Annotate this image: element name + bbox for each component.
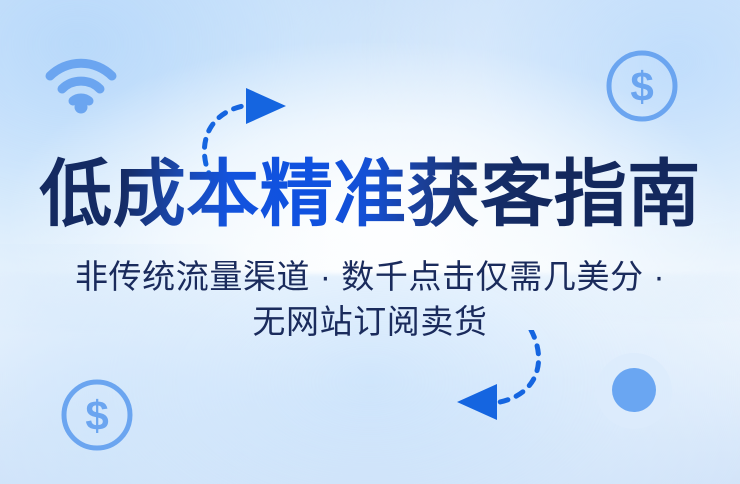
dollar-circle-icon: $ [604,48,680,124]
svg-text:$: $ [85,392,108,439]
dot-accent-icon [592,349,676,433]
poster-canvas: $ $ 低成本精准获客指南 非传统流量渠道 · 数千点击仅需几美分 · [0,0,740,484]
poster-text-block: 低成本精准获客指南 非传统流量渠道 · 数千点击仅需几美分 · 无网站订阅卖货 [0,152,740,344]
poster-subheadline-line-2: 无网站订阅卖货 [0,299,740,344]
poster-subheadline: 非传统流量渠道 · 数千点击仅需几美分 · 无网站订阅卖货 [0,254,740,344]
poster-subheadline-line-1: 非传统流量渠道 · 数千点击仅需几美分 · [0,254,740,299]
poster-headline: 低成本精准获客指南 [0,152,740,238]
svg-text:$: $ [630,63,653,110]
dollar-circle-icon: $ [59,377,135,453]
wifi-icon [44,50,118,114]
